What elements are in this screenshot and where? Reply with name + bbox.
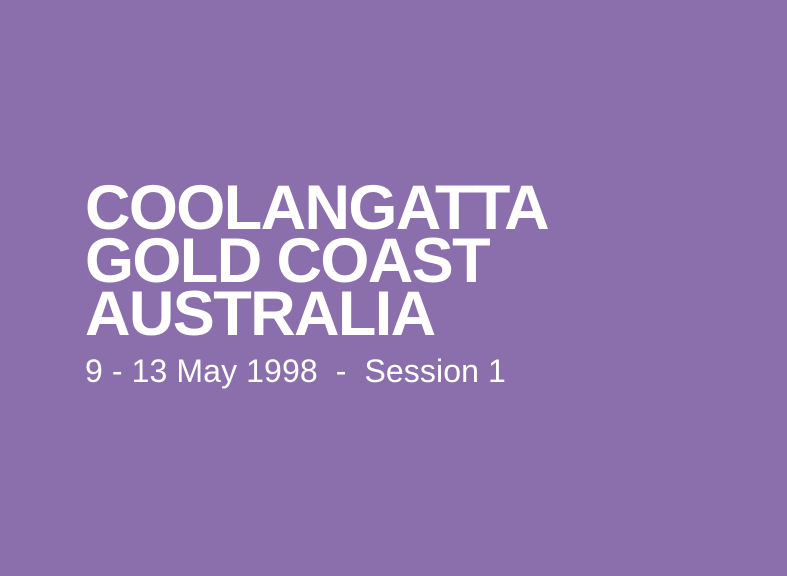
title-slide: COOLANGATTA GOLD COAST AUSTRALIA 9 - 13 … xyxy=(0,0,787,576)
headline-line-location-country: AUSTRALIA xyxy=(85,288,745,341)
event-headline: COOLANGATTA GOLD COAST AUSTRALIA xyxy=(85,182,745,341)
title-block: COOLANGATTA GOLD COAST AUSTRALIA 9 - 13 … xyxy=(85,182,745,388)
event-subtitle-dates-session: 9 - 13 May 1998 - Session 1 xyxy=(85,354,745,388)
